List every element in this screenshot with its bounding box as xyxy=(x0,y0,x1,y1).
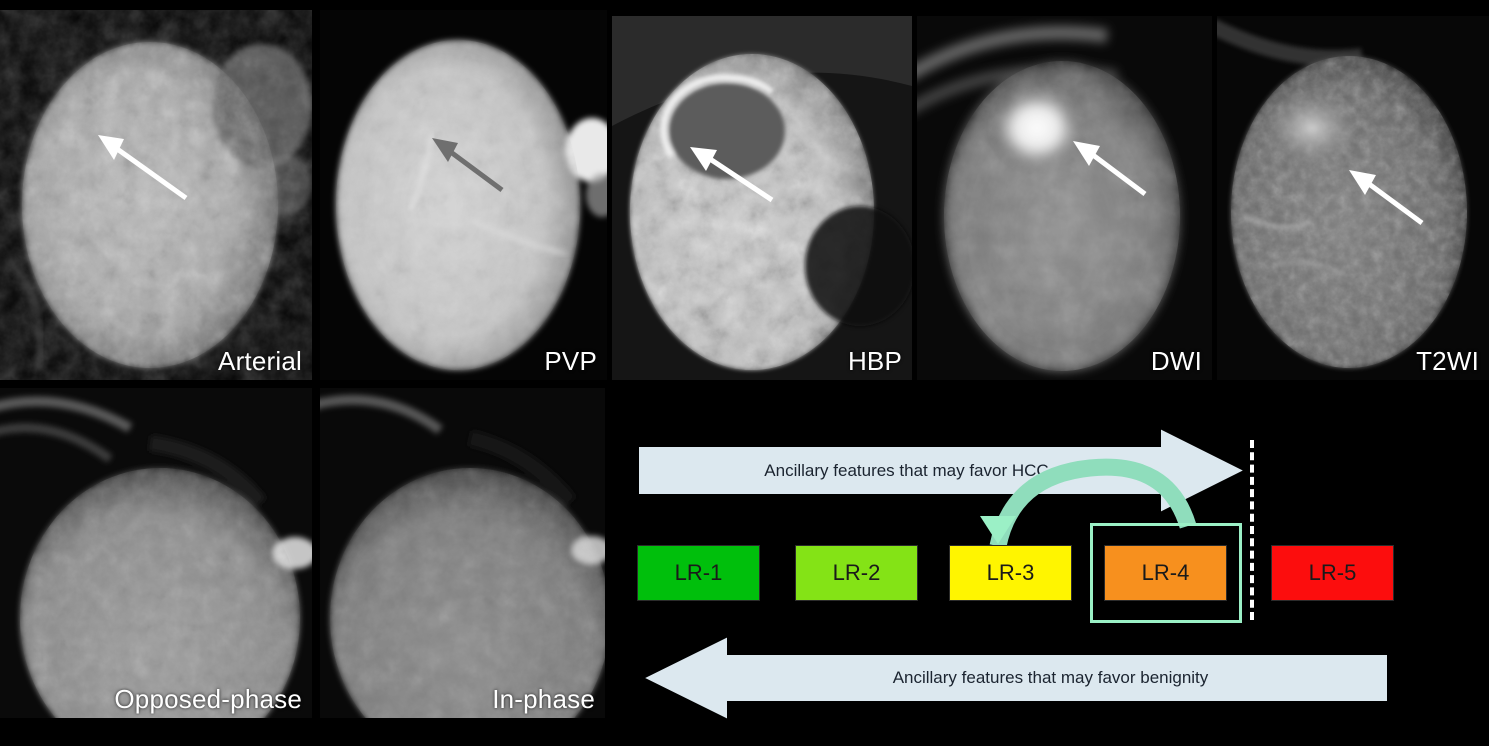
lirads-box-lr2[interactable]: LR-2 xyxy=(795,545,918,601)
lirads-box-label: LR-3 xyxy=(987,560,1035,586)
panel-label: PVP xyxy=(544,347,597,376)
lirads-box-lr3[interactable]: LR-3 xyxy=(949,545,1072,601)
ancillary-benignity-banner: Ancillary features that may favor benign… xyxy=(643,636,1388,720)
mri-panel-in-phase: In-phase xyxy=(320,388,605,718)
ancillary-benignity-text: Ancillary features that may favor benign… xyxy=(643,636,1388,720)
mri-panel-pvp: PVP xyxy=(320,10,607,380)
mri-panel-t2wi: T2WI xyxy=(1217,16,1489,380)
panel-label: DWI xyxy=(1151,347,1202,376)
lirads-box-label: LR-5 xyxy=(1309,560,1357,586)
mri-panel-dwi: DWI xyxy=(917,16,1212,380)
lirads-box-lr5[interactable]: LR-5 xyxy=(1271,545,1394,601)
panel-label: HBP xyxy=(848,347,902,376)
panel-label: T2WI xyxy=(1416,347,1479,376)
figure-root: Arterial xyxy=(0,0,1489,746)
panel-label: In-phase xyxy=(492,685,595,714)
panel-label: Arterial xyxy=(218,347,302,376)
mri-panel-hbp: HBP xyxy=(612,16,912,380)
lirads-box-label: LR-2 xyxy=(833,560,881,586)
lirads-dashed-divider xyxy=(1250,440,1254,620)
lirads-box-label: LR-1 xyxy=(675,560,723,586)
panel-label: Opposed-phase xyxy=(114,685,302,714)
mri-panel-opposed-phase: Fat component+ Opposed-phase xyxy=(0,388,312,718)
lirads-diagram: Ancillary features that may favor HCC LR… xyxy=(612,384,1489,746)
mri-panel-arterial: Arterial xyxy=(0,10,312,380)
lirads-box-lr1[interactable]: LR-1 xyxy=(637,545,760,601)
lirads-highlight-lr4 xyxy=(1090,523,1242,623)
